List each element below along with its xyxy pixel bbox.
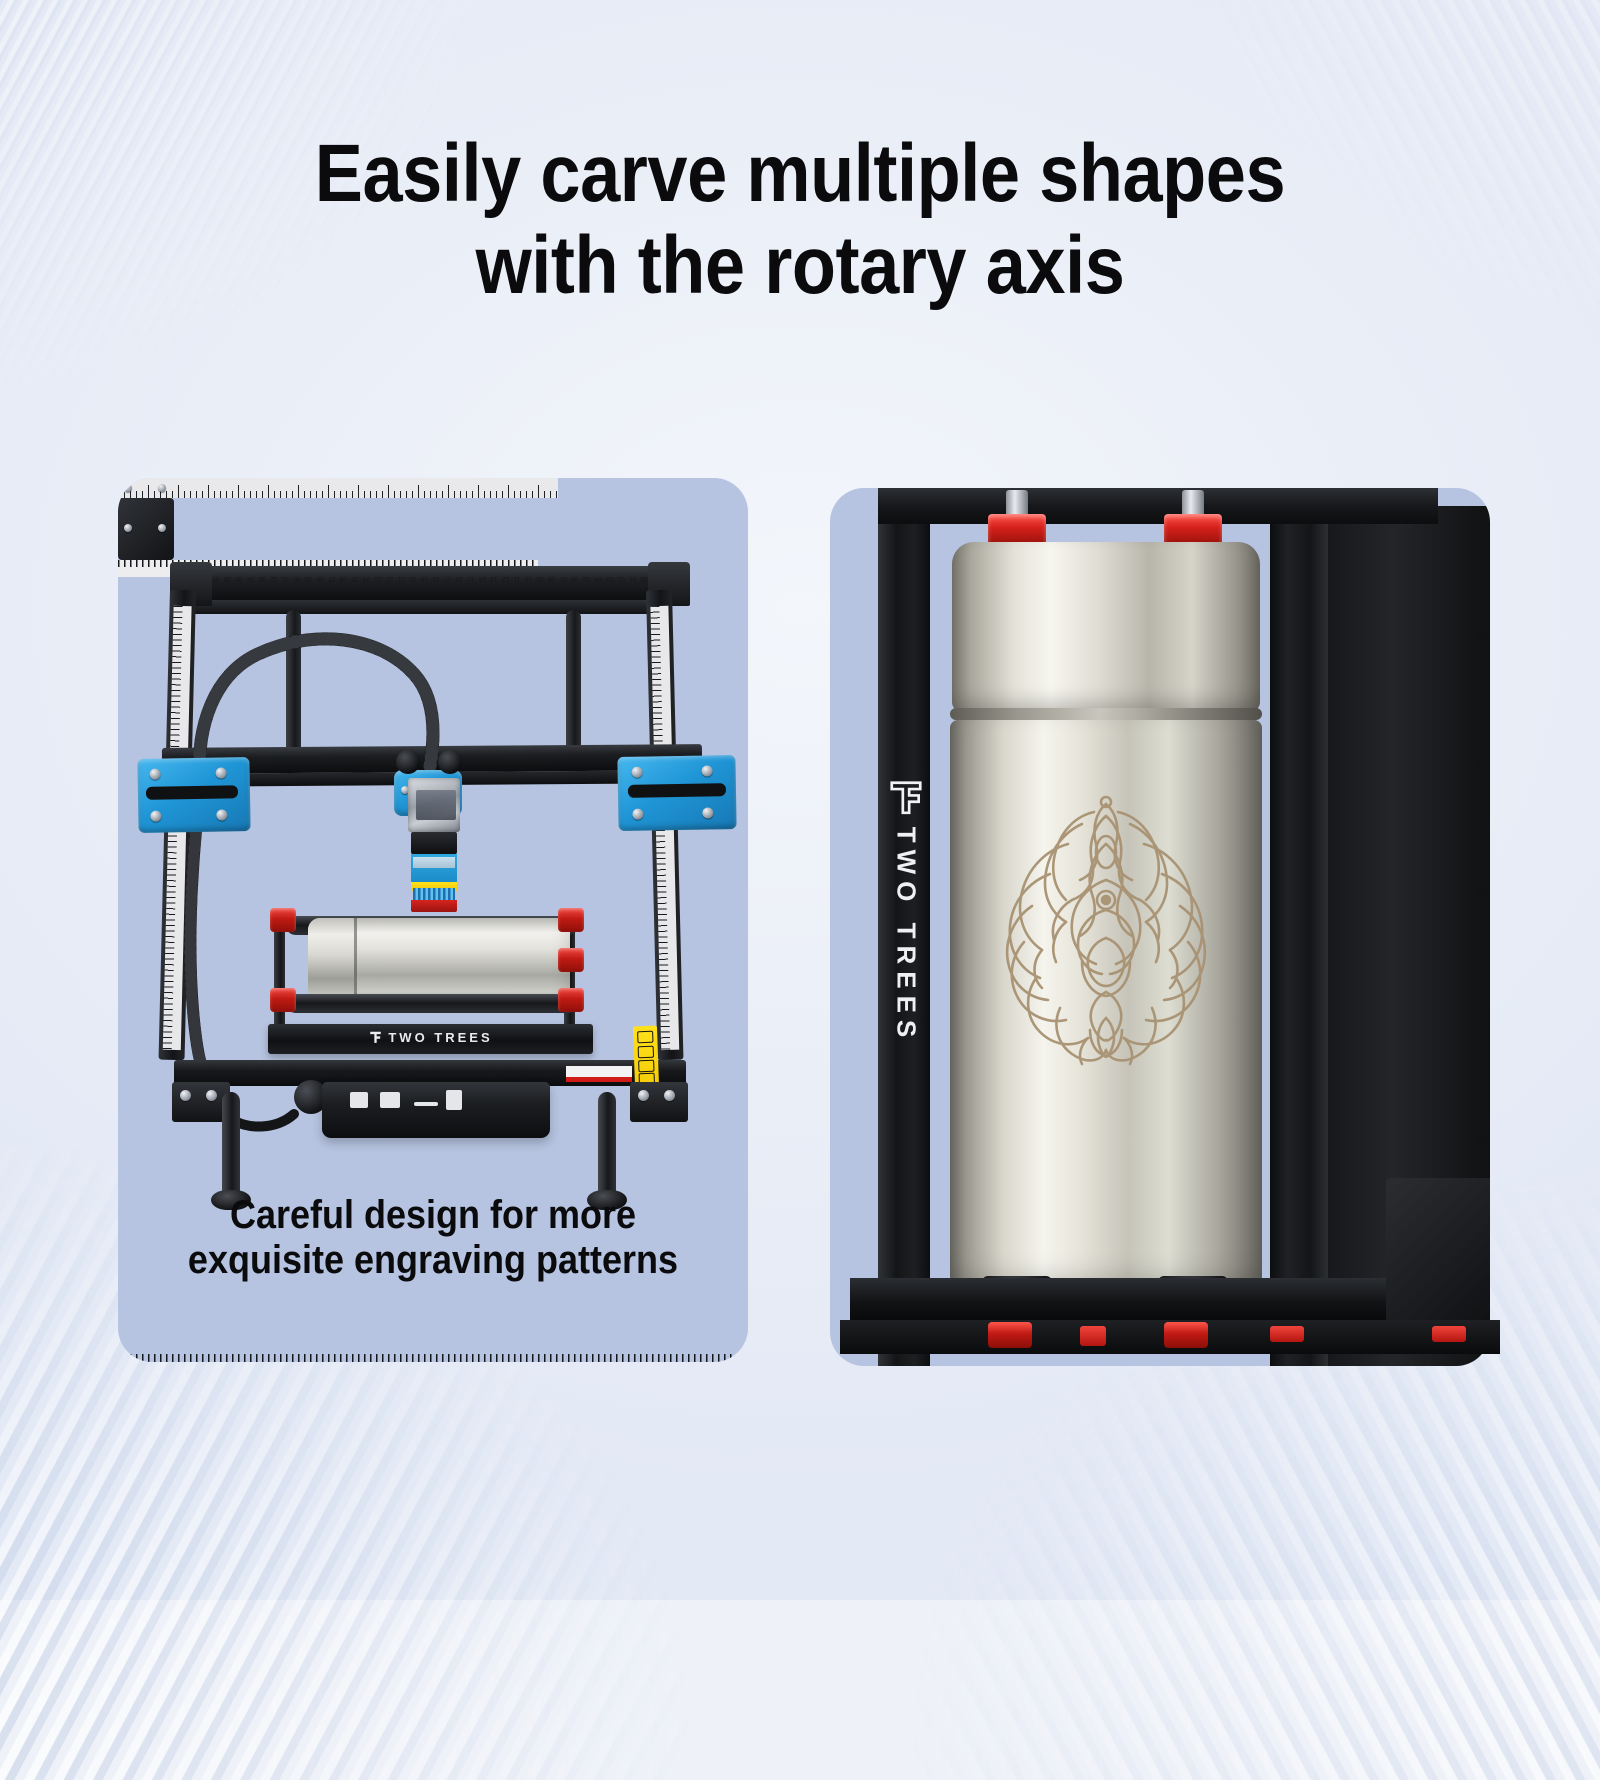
ruler-tick-number: 07 [560,575,567,582]
front-leg-right [598,1092,616,1202]
ruler-tick-number: 33 [259,575,266,582]
support-post-right [566,610,581,758]
ruler-tick-number: 17 [416,1070,423,1077]
ruler-tick-number: 17 [444,575,451,582]
ruler-tick-number: 29 [305,575,312,582]
overflow-collar [1432,1326,1466,1342]
ruler-tick-number: 16 [456,575,463,582]
ruler-tick-number: 09 [300,1070,307,1077]
port-usb [350,1092,368,1108]
ruler-tick-number: 21 [398,575,405,582]
support-post-left [286,610,301,758]
ruler-tick-number: 32 [270,575,277,582]
rotary-roller-front [286,994,578,1013]
top-ruler-numbers: 0001020304050607080910111213141516171819… [212,575,648,582]
ruler-tick-number: 06 [256,1070,263,1077]
ruler-tick-number: 19 [445,1070,452,1077]
caption-line-2: exquisite engraving patterns [150,1238,717,1284]
ruler-tick-number: 16 [401,1070,408,1077]
rotary-axis-assembly: TWO TREES [258,876,603,1076]
motor-screw [158,524,166,532]
ruler-tick-number: 09 [536,575,543,582]
ruler-tick-number: 15 [387,1070,394,1077]
foot-screw [180,1090,191,1101]
bracket-screw [632,809,643,820]
switch-slot [414,1102,438,1106]
overflow-collar [1080,1326,1106,1346]
front-leg-left [222,1092,240,1202]
closeup-brand-block: TWO TREES [880,778,932,1108]
ruler-tick-number: 03 [606,575,613,582]
ruler-tick-number: 05 [241,1070,248,1077]
ruler-tick-number: 21 [474,1070,481,1077]
ruler-tick-number: 04 [594,575,601,582]
ruler-tick-number: 20 [460,1070,467,1077]
ruler-tick-number: 13 [358,1070,365,1077]
control-box [322,1082,550,1138]
bracket-screw [702,807,713,818]
closeup-brand-text: TWO TREES [891,771,922,1101]
roller-collar [558,948,584,972]
foot-screw [638,1090,649,1101]
ruler-tick-number: 00 [212,1070,219,1077]
ruler-tick-number: 19 [421,575,428,582]
engraved-bottle-closeup: TWO TREES [830,488,1490,1366]
ruler-tick-number: 01 [629,575,636,582]
base-corner-right [630,1082,688,1122]
bracket-slot [146,785,238,800]
engraved-thermos [946,530,1266,1320]
roller-collar [270,908,296,932]
ruler-tick-number: 00 [641,575,648,582]
ruler-tick-number: 34 [247,575,254,582]
ruler-tick-number: 36 [224,575,231,582]
ruler-tick-number: 05 [583,575,590,582]
laser-warning-sticker [633,1026,659,1089]
ruler-tick-number: 23 [504,1070,511,1077]
top-gantry-rail [190,600,672,614]
bracket-slot [628,783,726,798]
ruler-tick-number: 23 [375,575,382,582]
bracket-screw [216,767,227,778]
foot-screw [206,1090,217,1101]
ruler-tick-number: 15 [467,575,474,582]
ruler-tick-number: 02 [618,575,625,582]
top-ruler [118,478,558,498]
ruler-tick-number: 25 [351,575,358,582]
ruler-tick-number: 24 [518,1070,525,1077]
ruler-tick-number: 10 [525,575,532,582]
ruler-tick-number: 20 [409,575,416,582]
ruler-tick-number: 30 [294,575,301,582]
carriage-wheel-left [396,750,420,774]
ruler-tick-number: 18 [431,1070,438,1077]
warning-icon [637,1031,653,1044]
panel-caption: Careful design for more exquisite engrav… [150,1193,717,1284]
ruler-tick-number: 11 [329,1070,336,1077]
headline-line-1: Easily carve multiple shapes [96,128,1504,220]
overflow-collar [1164,1322,1208,1348]
laser-pcb [416,790,456,820]
ruler-tick-number: 12 [343,1070,350,1077]
left-carriage-bracket [137,757,250,833]
ruler-tick-number: 12 [502,575,509,582]
ruler-tick-number: 07 [270,1070,277,1077]
ruler-tick-number: 35 [236,575,243,582]
bracket-screw [150,811,161,822]
ruler-tick-number: 22 [386,575,393,582]
thermos-cap-ring [950,708,1262,720]
ruler-tick-number: 26 [548,1070,555,1077]
bracket-screw [216,809,227,820]
ruler-tick-number: 04 [227,1070,234,1077]
closeup-bottom-overflow [840,1320,1500,1372]
ruler-tick-number: 08 [548,575,555,582]
roller-collar [270,988,296,1012]
ruler-tick-number: 31 [282,575,289,582]
headline: Easily carve multiple shapes with the ro… [96,128,1504,312]
two-trees-logo-icon [368,1030,383,1044]
headline-line-2: with the rotary axis [96,220,1504,312]
overflow-collar [988,1322,1032,1348]
warning-icon [638,1046,654,1059]
ruler-tick-number: 08 [285,1070,292,1077]
laser-heatsink [408,778,460,832]
ruler-tick-number: 06 [571,575,578,582]
ruler-tick-number: 14 [372,1070,379,1077]
bracket-screw [632,767,643,778]
overflow-collar [1270,1326,1304,1342]
ruler-tick-number: 11 [514,575,521,582]
ruler-tick-number: 13 [491,575,498,582]
motor-screw [124,524,132,532]
ruler-tick-number: 28 [317,575,324,582]
right-feature-panel: TWO TREES [830,488,1490,1366]
rotary-base-brand-text: TWO TREES [388,1030,492,1045]
roller-collar [558,908,584,932]
foot-screw [664,1090,675,1101]
caption-line-1: Careful design for more [150,1193,717,1239]
closeup-right-rail [1270,506,1328,1366]
ruler-tick-number: 24 [363,575,370,582]
top-gantry-beam [180,566,680,600]
right-carriage-bracket [617,755,736,831]
ruler-tick-number: 25 [533,1070,540,1077]
roller-collar [558,988,584,1012]
port-power [446,1090,462,1110]
ruler-tick-number: 18 [433,575,440,582]
ruler-tick-number: 27 [328,575,335,582]
rotary-base-brand: TWO TREES [258,1030,603,1045]
warning-icon [638,1060,654,1073]
bracket-screw [702,765,713,776]
ruler-tick-number: 22 [489,1070,496,1077]
carriage-wheel-right [438,750,462,774]
motor-screw [158,484,166,492]
ruler-tick-number: 26 [340,575,347,582]
port-sd [380,1092,400,1108]
laser-body [411,832,457,854]
bracket-screw [150,769,161,780]
motor-screw [124,484,132,492]
stepper-motor-left [118,498,174,560]
left-feature-panel: 0001020304050607080910111213141516171819… [118,478,748,1362]
ruler-tick-number: 37 [212,575,219,582]
ruler-tick-number: 14 [479,575,486,582]
spec-sticker [566,1066,632,1082]
ruler-tick-number: 10 [314,1070,321,1077]
thermos-cap [952,542,1260,712]
damask-flourish-engraving [974,782,1238,1072]
